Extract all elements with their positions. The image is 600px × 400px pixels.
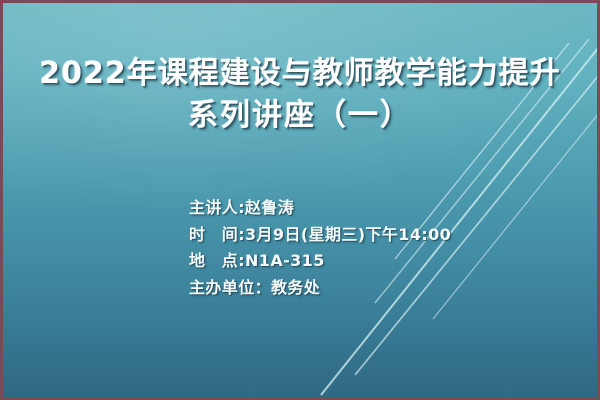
presentation-slide: 2022年课程建设与教师教学能力提升 系列讲座（一） 主讲人:赵鲁涛 时 间:3… xyxy=(0,0,600,400)
detail-speaker: 主讲人:赵鲁涛 xyxy=(189,195,451,222)
slide-details-block: 主讲人:赵鲁涛 时 间:3月9日(星期三)下午14:00 地 点:N1A-315… xyxy=(189,195,451,301)
title-line-1: 2022年课程建设与教师教学能力提升 xyxy=(21,53,579,95)
detail-location: 地 点:N1A-315 xyxy=(189,248,451,275)
title-line-2: 系列讲座（一） xyxy=(21,95,579,137)
detail-time: 时 间:3月9日(星期三)下午14:00 xyxy=(189,222,451,249)
detail-organizer: 主办单位：教务处 xyxy=(189,275,451,302)
slide-title: 2022年课程建设与教师教学能力提升 系列讲座（一） xyxy=(3,53,597,137)
